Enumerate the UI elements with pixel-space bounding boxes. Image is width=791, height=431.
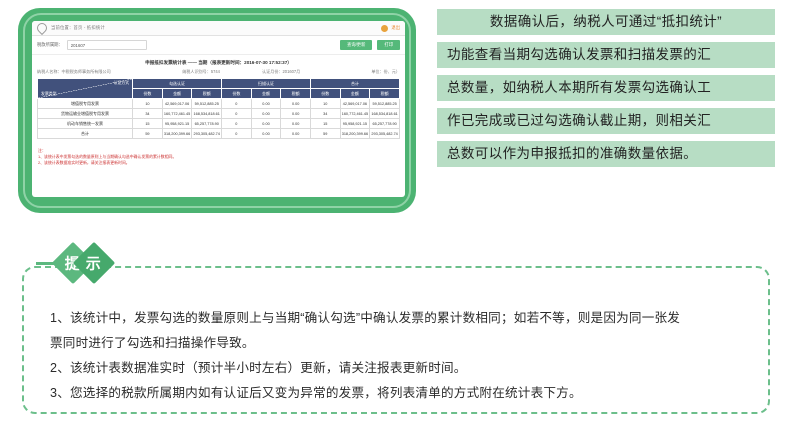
- cell: 0.00: [281, 119, 311, 129]
- description-band: 作已完成或已过勾选确认截止期，则相关汇: [437, 108, 775, 134]
- row-label: 货物运输业增值税专用发票: [38, 109, 133, 119]
- embedded-screenshot: 当前位置：首页 - 抵扣统计 退出 税款所属期： 201607 查询/更新 打印…: [32, 21, 405, 197]
- cell: 0: [222, 119, 252, 129]
- cell: 95,958,921.15: [340, 119, 370, 129]
- cell: 318,200,399.66: [162, 129, 192, 139]
- tips-content: 1、该统计中，发票勾选的数量原则上与当期“确认勾选”中确认发票的累计数相同；如若…: [24, 268, 768, 406]
- cell: 0: [222, 99, 252, 109]
- row-label: 机动车销售统一发票: [38, 119, 133, 129]
- cell: 168,534,818.61: [192, 109, 222, 119]
- cell: 10: [133, 99, 163, 109]
- cell: 0.00: [281, 109, 311, 119]
- query-bar: 税款所属期： 201607 查询/更新 打印: [32, 36, 405, 55]
- cell: 318,200,399.66: [340, 129, 370, 139]
- meta-auth-month: 认证月份：201607月: [262, 69, 342, 75]
- breadcrumb: 当前位置：首页 - 抵扣统计: [51, 25, 105, 31]
- sub-header-count-2: 份数: [222, 89, 252, 99]
- cell: 59,512,885.25: [192, 99, 222, 109]
- row-label: 合计: [38, 129, 133, 139]
- cell: 0.00: [281, 99, 311, 109]
- table-body: 增值税专用发票 10 42,569,017.06 59,512,885.25 0…: [38, 99, 400, 139]
- table-corner-cell: 认证方式 发票类型: [38, 79, 133, 99]
- screenshot-header-bar: 当前位置：首页 - 抵扣统计 退出: [32, 21, 405, 36]
- footnote-line: 2、该统计表数据准实时更新，请关注报表更新时间。: [38, 160, 399, 166]
- cell: 95,958,921.15: [162, 119, 192, 129]
- tax-period-label: 税款所属期：: [37, 42, 63, 48]
- sub-header-amount-3: 金额: [340, 89, 370, 99]
- tips-box: 提 示 1、该统计中，发票勾选的数量原则上与当期“确认勾选”中确认发票的累计数相…: [22, 266, 770, 414]
- row-label: 增值税专用发票: [38, 99, 133, 109]
- cell: 0: [222, 129, 252, 139]
- table-footnotes: 注： 1、该统计表中发票勾选的数量原则上与当期确认勾选中确认发票的累计数相同。 …: [32, 139, 405, 166]
- description-bands: 数据确认后，纳税人可通过“抵扣统计” 功能查看当期勾选确认发票和扫描发票的汇 总…: [437, 9, 775, 174]
- sub-header-count-3: 份数: [310, 89, 340, 99]
- tax-period-input[interactable]: 201607: [67, 40, 147, 50]
- sub-header-count-1: 份数: [133, 89, 163, 99]
- table-row: 合计 59 318,200,399.66 293,305,482.74 0 0.…: [38, 129, 400, 139]
- cell: 0.00: [251, 129, 281, 139]
- tip-line: 票同时进行了勾选和扫描操作导致。: [50, 331, 742, 356]
- description-band: 总数可以作为申报抵扣的准确数量依据。: [437, 141, 775, 167]
- group-header-checked: 勾选认证: [133, 79, 222, 89]
- sub-header-amount-1: 金额: [162, 89, 192, 99]
- cell: 0.00: [251, 99, 281, 109]
- tip-line: 2、该统计表数据准实时（预计半小时左右）更新，请关注报表更新时间。: [50, 356, 742, 381]
- cell: 65,257,778.90: [370, 119, 400, 129]
- table-head: 认证方式 发票类型 勾选认证 扫描认证 合计 份数 金额 税额 份数 金额 税额: [38, 79, 400, 99]
- sub-header-tax-3: 税额: [370, 89, 400, 99]
- sub-header-tax-2: 税额: [281, 89, 311, 99]
- cell: 15: [133, 119, 163, 129]
- report-meta-row: 纳税人名称：中税税务师事务所有限公司 纳税人识别号：5744 认证月份：2016…: [32, 69, 405, 78]
- cell: 42,569,017.06: [340, 99, 370, 109]
- cell: 160,772,461.45: [162, 109, 192, 119]
- cell: 34: [133, 109, 163, 119]
- tips-badge-char-2: 示: [86, 252, 101, 273]
- table-row: 机动车销售统一发票 15 95,958,921.15 65,257,778.90…: [38, 119, 400, 129]
- tip-line: 1、该统计中，发票勾选的数量原则上与当期“确认勾选”中确认发票的累计数相同；如若…: [50, 306, 742, 331]
- query-update-button[interactable]: 查询/更新: [340, 40, 372, 50]
- corner-label-invoice-type: 发票类型: [41, 91, 57, 97]
- cell: 59,512,885.25: [370, 99, 400, 109]
- tips-badge: 提 示: [58, 248, 109, 278]
- cell: 293,305,482.74: [370, 129, 400, 139]
- user-avatar-icon: [381, 25, 388, 32]
- cell: 293,305,482.74: [192, 129, 222, 139]
- header-right-group: 退出: [381, 25, 400, 32]
- map-pin-icon: [35, 21, 49, 35]
- deduction-statistics-table: 认证方式 发票类型 勾选认证 扫描认证 合计 份数 金额 税额 份数 金额 税额: [37, 78, 400, 139]
- description-band: 功能查看当期勾选确认发票和扫描发票的汇: [437, 42, 775, 68]
- cell: 42,569,017.06: [162, 99, 192, 109]
- cell: 0: [222, 109, 252, 119]
- cell: 65,257,778.90: [192, 119, 222, 129]
- table-row: 增值税专用发票 10 42,569,017.06 59,512,885.25 0…: [38, 99, 400, 109]
- table-group-header-row: 认证方式 发票类型 勾选认证 扫描认证 合计: [38, 79, 400, 89]
- meta-unit: 单位：份、元）: [342, 69, 400, 75]
- meta-taxpayer-id: 纳税人识别号：5744: [182, 69, 262, 75]
- group-header-scanned: 扫描认证: [222, 79, 311, 89]
- table-row: 货物运输业增值税专用发票 34 160,772,461.45 168,534,8…: [38, 109, 400, 119]
- cell: 15: [310, 119, 340, 129]
- screenshot-card-frame: 当前位置：首页 - 抵扣统计 退出 税款所属期： 201607 查询/更新 打印…: [18, 8, 416, 213]
- cell: 0.00: [251, 119, 281, 129]
- sub-header-amount-2: 金额: [251, 89, 281, 99]
- description-band: 数据确认后，纳税人可通过“抵扣统计”: [437, 9, 775, 35]
- sub-header-tax-1: 税额: [192, 89, 222, 99]
- cell: 168,534,818.61: [370, 109, 400, 119]
- cell: 160,772,461.45: [340, 109, 370, 119]
- report-title: 申报抵扣发票统计表 —— 当期（报表更新时间：2016-07-30 17:52:…: [32, 55, 405, 69]
- cell: 0.00: [251, 109, 281, 119]
- cell: 34: [310, 109, 340, 119]
- cell: 0.00: [281, 129, 311, 139]
- print-button[interactable]: 打印: [377, 40, 400, 50]
- corner-label-auth-method: 认证方式: [114, 80, 130, 86]
- page-root: 当前位置：首页 - 抵扣统计 退出 税款所属期： 201607 查询/更新 打印…: [0, 0, 791, 431]
- description-band: 总数量，如纳税人本期所有发票勾选确认工: [437, 75, 775, 101]
- query-buttons-group: 查询/更新 打印: [340, 40, 400, 50]
- cell: 59: [133, 129, 163, 139]
- cell: 59: [310, 129, 340, 139]
- cell: 10: [310, 99, 340, 109]
- logout-link[interactable]: 退出: [391, 25, 400, 31]
- meta-taxpayer-name: 纳税人名称：中税税务师事务所有限公司: [37, 69, 182, 75]
- tip-line: 3、您选择的税款所属期内如有认证后又变为异常的发票，将列表清单的方式附在统计表下…: [50, 381, 742, 406]
- group-header-total: 合计: [310, 79, 399, 89]
